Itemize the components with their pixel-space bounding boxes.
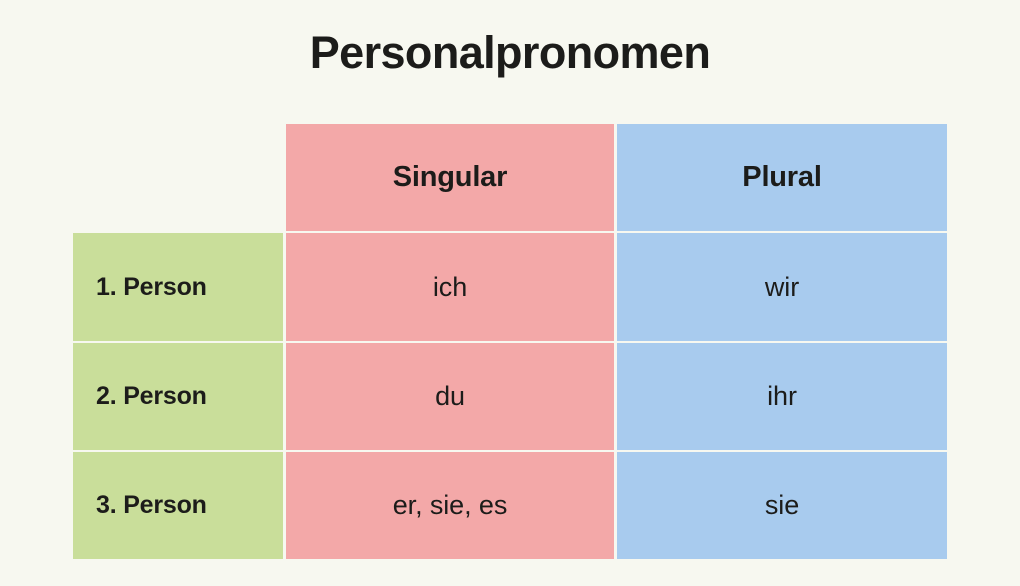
row-header-3-person: 3. Person xyxy=(73,452,283,559)
personal-pronouns-table: Singular Plural 1. Person ich wir 2. Per… xyxy=(73,124,947,553)
cell-2-person-plural: ihr xyxy=(617,343,947,450)
page-title: Personalpronomen xyxy=(0,30,1020,75)
cell-2-person-singular: du xyxy=(286,343,614,450)
cell-3-person-plural: sie xyxy=(617,452,947,559)
column-header-plural: Plural xyxy=(617,124,947,231)
row-header-2-person: 2. Person xyxy=(73,343,283,450)
cell-1-person-singular: ich xyxy=(286,233,614,341)
cell-1-person-plural: wir xyxy=(617,233,947,341)
column-header-singular: Singular xyxy=(286,124,614,231)
table-corner-cell xyxy=(73,124,283,231)
row-header-1-person: 1. Person xyxy=(73,233,283,341)
cell-3-person-singular: er, sie, es xyxy=(286,452,614,559)
